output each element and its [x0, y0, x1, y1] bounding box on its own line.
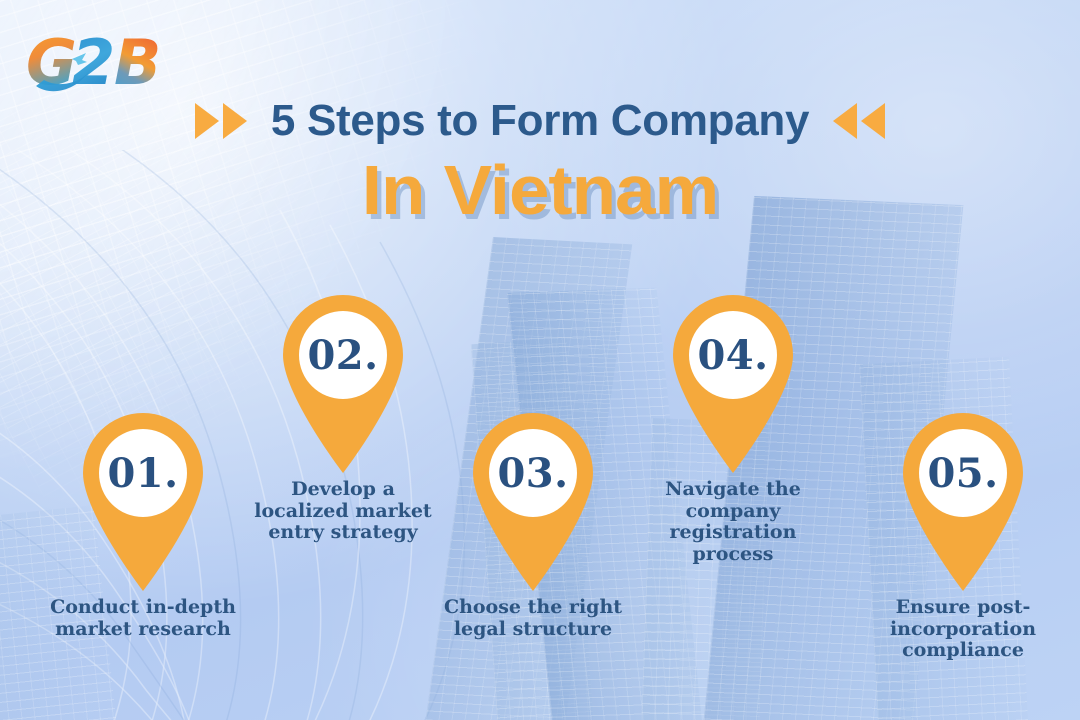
page-title: 5 Steps to Form Company	[271, 96, 809, 146]
caption-line: Choose the right	[424, 597, 642, 619]
caption-line: Ensure post-	[854, 597, 1072, 619]
step-caption: Ensure post- incorporation compliance	[848, 597, 1078, 662]
map-pin-1[interactable]: 01.	[65, 395, 221, 591]
step-number: 02.	[265, 277, 421, 433]
double-arrow-right-icon	[195, 103, 247, 139]
svg-text:B: B	[114, 26, 161, 99]
step-item-5[interactable]: 05. Ensure post- incorporation complianc…	[848, 395, 1078, 662]
caption-line: legal structure	[424, 619, 642, 641]
step-number: 04.	[655, 277, 811, 433]
step-caption: Choose the right legal structure	[418, 597, 648, 640]
map-pin-4[interactable]: 04.	[655, 277, 811, 473]
caption-line: company	[624, 501, 842, 523]
infographic-canvas: G 2 B 5 Steps to Form Company In Vietnam	[0, 0, 1080, 720]
map-pin-2[interactable]: 02.	[265, 277, 421, 473]
caption-line: incorporation	[854, 619, 1072, 641]
caption-line: registration	[624, 522, 842, 544]
title-row: 5 Steps to Form Company	[0, 96, 1080, 146]
step-caption: Navigate the company registration proces…	[618, 479, 848, 566]
caption-line: process	[624, 544, 842, 566]
g2b-logo-icon: G 2 B	[28, 26, 188, 98]
step-number: 01.	[65, 395, 221, 551]
step-item-4[interactable]: 04. Navigate the company registration pr…	[618, 277, 848, 566]
caption-line: market research	[34, 619, 252, 641]
brand-logo[interactable]: G 2 B	[28, 26, 188, 98]
step-caption: Conduct in-depth market research	[28, 597, 258, 640]
caption-line: Conduct in-depth	[34, 597, 252, 619]
header: 5 Steps to Form Company In Vietnam	[0, 96, 1080, 230]
step-number: 05.	[885, 395, 1041, 551]
map-pin-5[interactable]: 05.	[885, 395, 1041, 591]
step-number: 03.	[455, 395, 611, 551]
page-subtitle: In Vietnam	[0, 150, 1080, 230]
caption-line: Navigate the	[624, 479, 842, 501]
step-item-1[interactable]: 01. Conduct in-depth market research	[28, 395, 258, 640]
double-arrow-left-icon	[833, 103, 885, 139]
caption-line: compliance	[854, 640, 1072, 662]
step-item-3[interactable]: 03. Choose the right legal structure	[418, 395, 648, 640]
map-pin-3[interactable]: 03.	[455, 395, 611, 591]
